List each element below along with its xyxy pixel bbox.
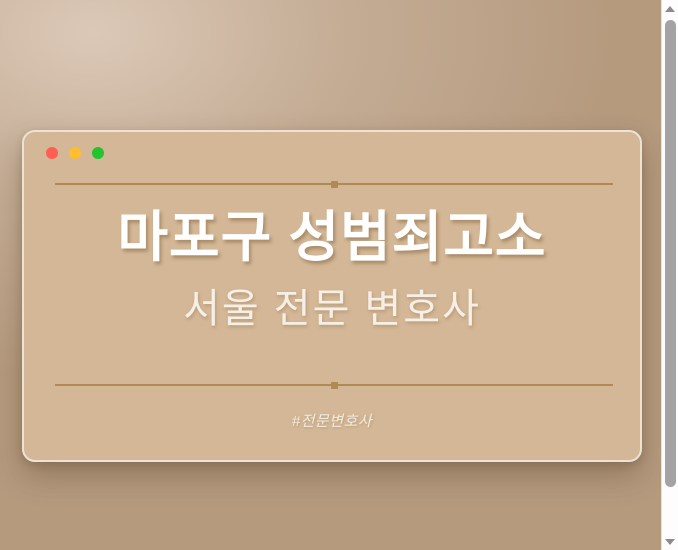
slide-text-block: 마포구 성범죄고소 서울 전문 변호사 bbox=[24, 183, 640, 386]
slide-title: 마포구 성범죄고소 bbox=[24, 209, 640, 267]
slide-hashtag: #전문변호사 bbox=[24, 410, 640, 431]
close-button[interactable] bbox=[46, 147, 58, 159]
divider-bottom bbox=[55, 384, 613, 386]
maximize-button[interactable] bbox=[92, 147, 104, 159]
slide-card: 마포구 성범죄고소 서울 전문 변호사 #전문변호사 bbox=[22, 130, 642, 462]
scrollbar-thumb[interactable] bbox=[665, 20, 676, 487]
minimize-button[interactable] bbox=[69, 147, 81, 159]
page-scrollbar[interactable] bbox=[661, 0, 678, 550]
window-controls bbox=[46, 147, 104, 159]
slide-subtitle: 서울 전문 변호사 bbox=[24, 287, 640, 331]
divider-node-icon bbox=[331, 382, 338, 389]
scroll-up-arrow-icon[interactable] bbox=[662, 0, 678, 17]
scroll-down-arrow-icon[interactable] bbox=[662, 533, 678, 550]
page-viewport: 마포구 성범죄고소 서울 전문 변호사 #전문변호사 bbox=[0, 0, 678, 550]
